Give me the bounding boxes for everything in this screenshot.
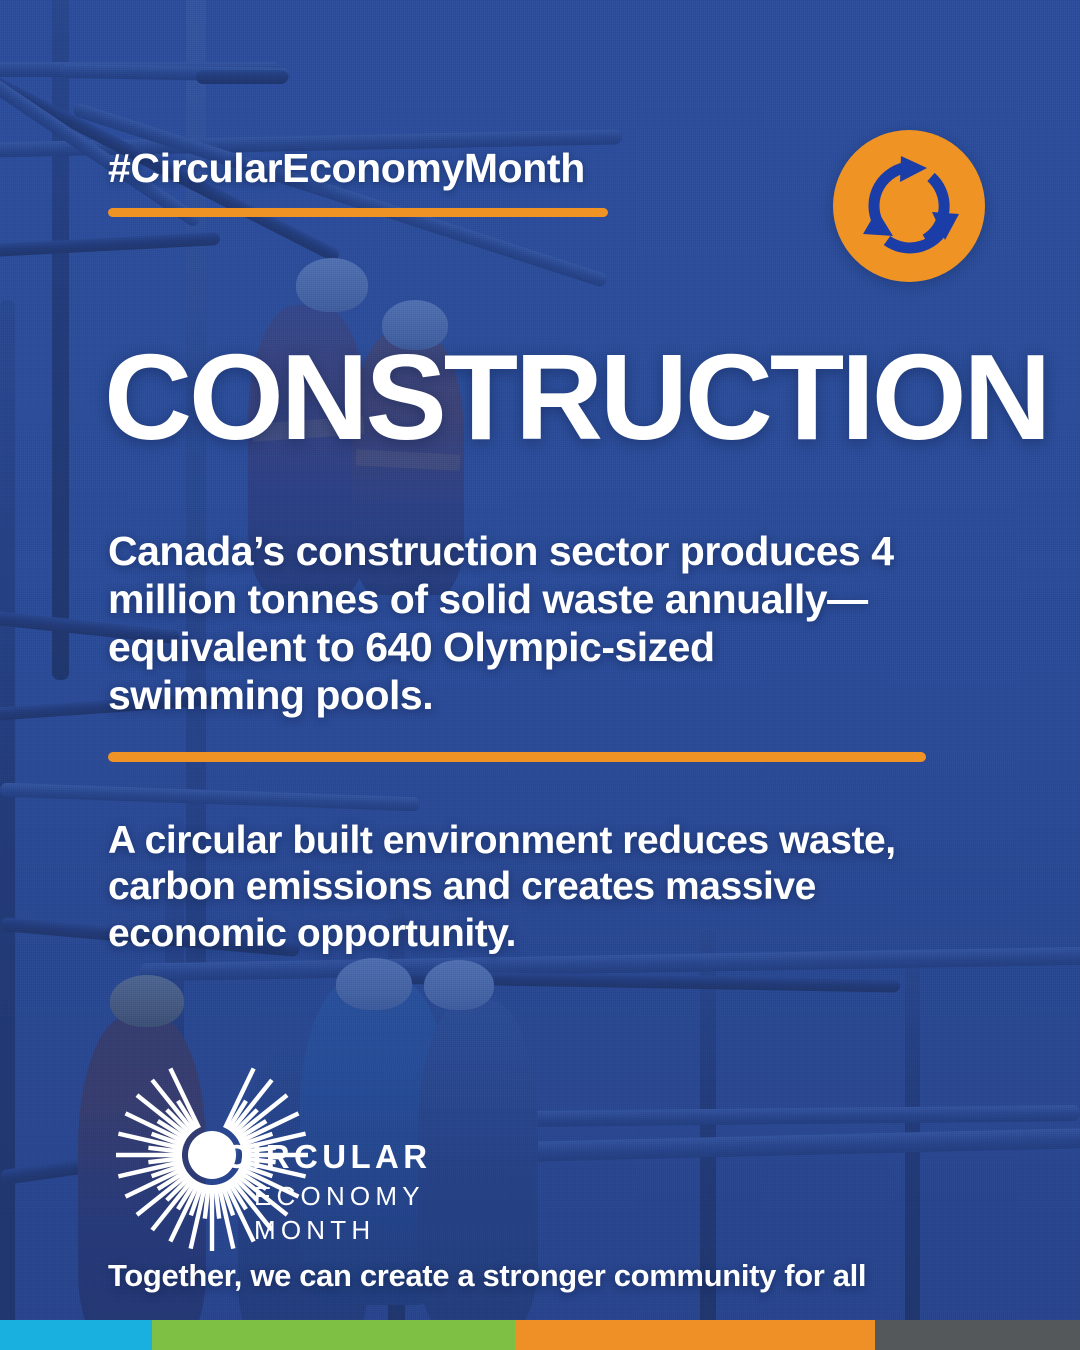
body-paragraph-1: Canada’s construction sector produces 4 … (108, 528, 898, 720)
divider-rule-top (108, 208, 608, 217)
divider-rule-middle (108, 752, 926, 762)
footer-segment-cyan (0, 1320, 152, 1350)
hashtag-label: #CircularEconomyMonth (108, 145, 585, 192)
poster-content: #CircularEconomyMonth CO (0, 0, 1080, 1350)
page-title: CONSTRUCTION (104, 339, 1044, 456)
poster-canvas: #CircularEconomyMonth CO (0, 0, 1080, 1350)
footer-segment-gray (875, 1320, 1080, 1350)
tagline-text: Together, we can create a stronger commu… (108, 1258, 866, 1294)
circular-economy-month-logo: CIRCULAR ECONOMY MONTH (118, 1035, 418, 1260)
footer-segment-green (152, 1320, 515, 1350)
footer-color-bar (0, 1320, 1080, 1350)
circular-recycling-arrows-icon (857, 154, 961, 258)
logo-line-3: MONTH (254, 1215, 375, 1245)
circular-recycling-badge (833, 130, 985, 282)
logo-line-1: CIRCULAR (224, 1138, 432, 1175)
body-paragraph-2: A circular built environment reduces was… (108, 818, 958, 957)
footer-segment-orange (515, 1320, 875, 1350)
logo-line-2: ECONOMY (254, 1181, 425, 1211)
